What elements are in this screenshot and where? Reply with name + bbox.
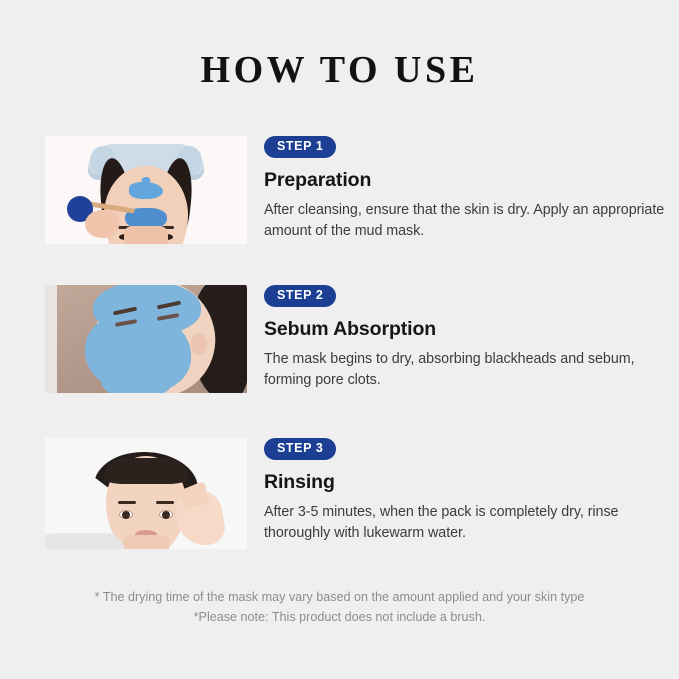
hair-front-shape (104, 458, 188, 484)
page-title: HOW TO USE (0, 48, 679, 92)
brow-right-shape (156, 501, 174, 504)
step-2-heading: Sebum Absorption (264, 318, 674, 341)
step-1-body: After cleansing, ensure that the skin is… (264, 200, 674, 242)
step-1-image (45, 136, 247, 244)
ear-shape (191, 333, 207, 355)
step-3-content: STEP 3 Rinsing After 3-5 minutes, when t… (264, 438, 674, 544)
mask-forehead-shape (129, 182, 163, 199)
neck-shape (123, 535, 169, 549)
brow-left-shape (118, 501, 136, 504)
step-2-body: The mask begins to dry, absorbing blackh… (264, 349, 674, 391)
wall-shape (45, 285, 57, 393)
step-2-content: STEP 2 Sebum Absorption The mask begins … (264, 285, 674, 391)
step-1-heading: Preparation (264, 169, 674, 192)
hand-shape (85, 210, 119, 238)
step-3-body: After 3-5 minutes, when the pack is comp… (264, 502, 674, 544)
footer-line-1: * The drying time of the mask may vary b… (0, 588, 679, 608)
step-1-content: STEP 1 Preparation After cleansing, ensu… (264, 136, 674, 242)
step-3-image (45, 438, 247, 549)
step-2-image (45, 285, 247, 393)
step-2-badge: STEP 2 (264, 285, 336, 307)
step-1-badge: STEP 1 (264, 136, 336, 158)
neck-shape (124, 226, 168, 244)
mask-patch-low-shape (101, 363, 173, 393)
eye-right-shape (159, 510, 173, 519)
how-to-use-infographic: HOW TO USE (0, 0, 679, 679)
shoulder-shape (45, 533, 125, 549)
eye-left-shape (119, 510, 133, 519)
footer-disclaimer: * The drying time of the mask may vary b… (0, 588, 679, 627)
step-3-badge: STEP 3 (264, 438, 336, 460)
footer-line-2: *Please note: This product does not incl… (0, 608, 679, 628)
step-3-heading: Rinsing (264, 471, 674, 494)
